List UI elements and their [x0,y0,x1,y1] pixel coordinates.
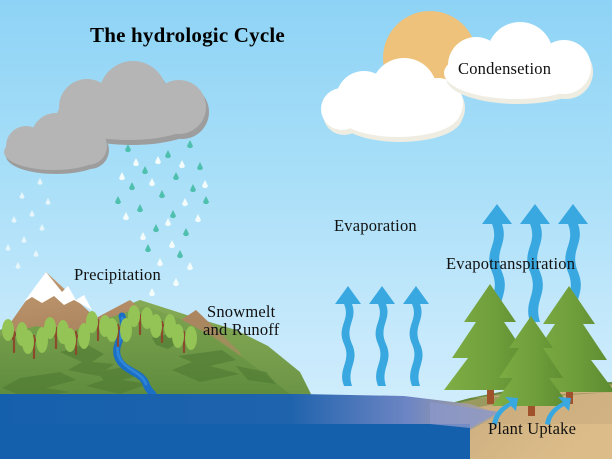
evaporation-arrows [335,286,429,386]
label-condensation: Condensetion [458,60,551,78]
page-title: The hydrologic Cycle [90,24,285,48]
label-plant-uptake: Plant Uptake [488,420,576,438]
label-evaporation: Evaporation [334,217,417,235]
label-evapotranspiration: Evapotranspiration [446,255,575,273]
hydrologic-cycle-diagram: The hydrologic Cycle Condensetion Evapor… [0,0,612,459]
label-precipitation: Precipitation [74,266,161,284]
water-body-lower [0,424,470,459]
label-snowmelt-and-runoff: Snowmelt and Runoff [203,303,279,340]
